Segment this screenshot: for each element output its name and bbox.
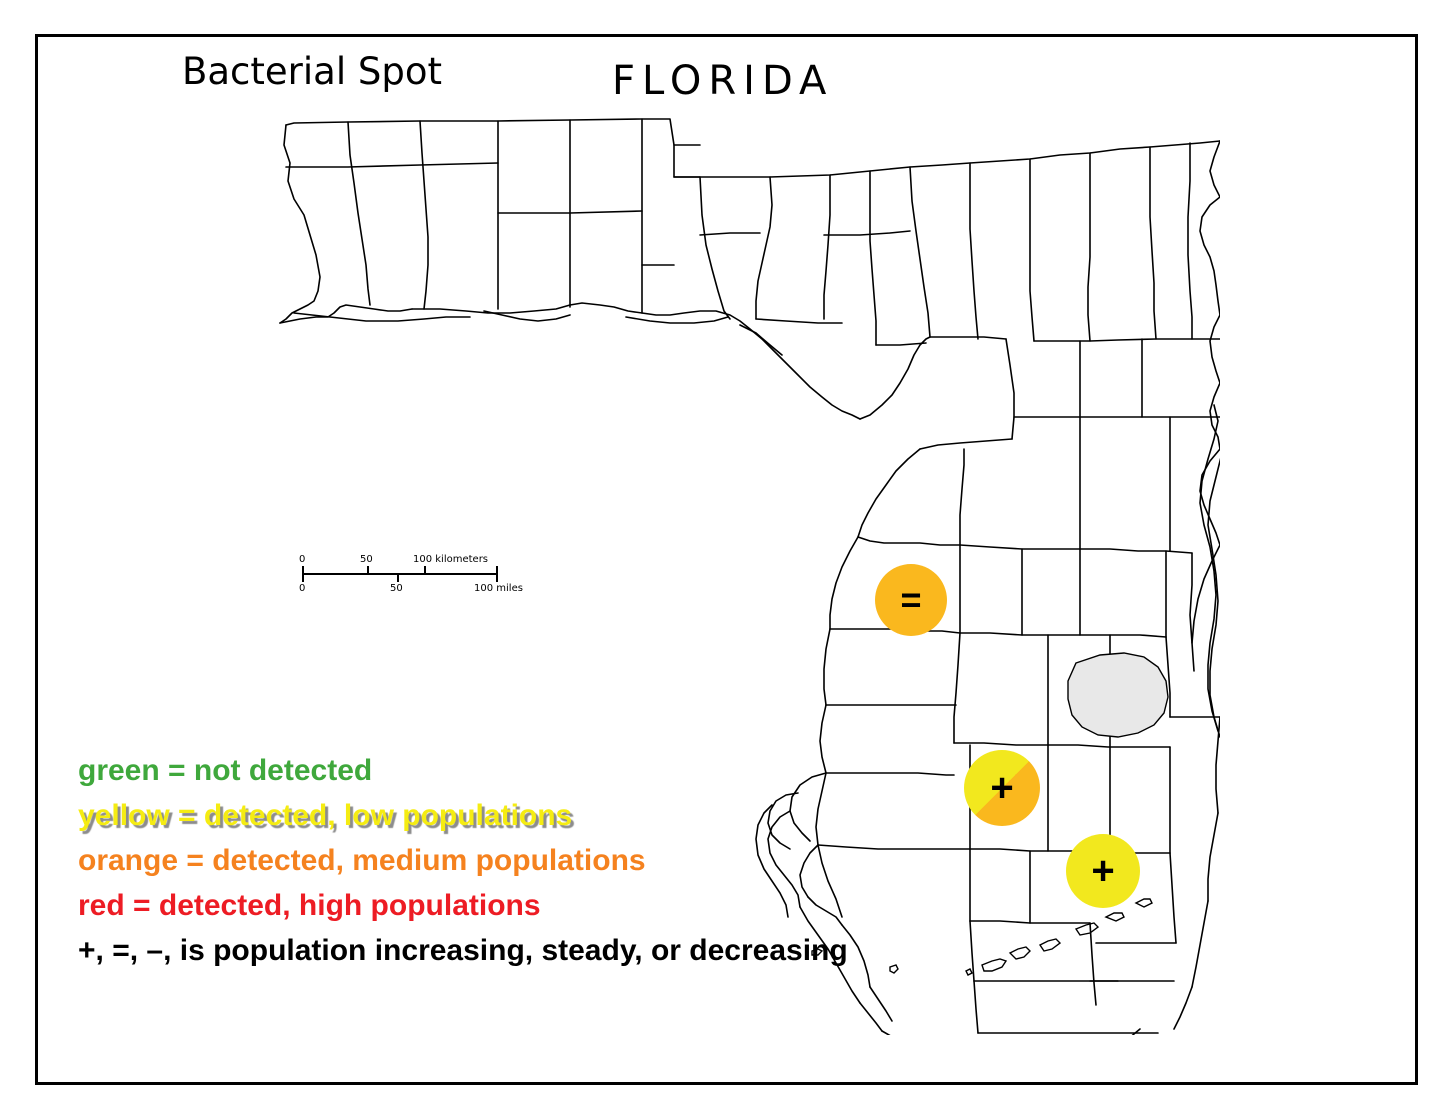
marker-southwest[interactable]: +: [964, 750, 1040, 826]
scale-tick-mi-50: [397, 573, 399, 582]
plus-sign-icon: +: [1091, 851, 1114, 891]
scale-label-km-50: 50: [360, 554, 373, 565]
legend-item-symbols: +, =, –, is population increasing, stead…: [78, 928, 1058, 973]
scale-tick-km-100: [424, 566, 426, 575]
legend-item-yellow: yellow = detected, low populations: [78, 793, 1058, 838]
scale-tick-km-50: [367, 566, 369, 575]
scale-label-mi-100: 100 miles: [474, 583, 523, 594]
state-title: FLORIDA: [612, 58, 833, 104]
legend-item-red: red = detected, high populations: [78, 883, 1058, 928]
legend-item-orange: orange = detected, medium populations: [78, 838, 1058, 883]
page-title: Bacterial Spot: [182, 50, 442, 93]
scale-tick-mi-100: [496, 573, 498, 582]
slide-canvas: Bacterial Spot FLORIDA: [0, 0, 1451, 1119]
scale-label-mi-50: 50: [390, 583, 403, 594]
legend: green = not detected yellow = detected, …: [78, 748, 1058, 973]
equals-sign-icon: =: [900, 582, 921, 618]
scale-label-km-0: 0: [299, 554, 305, 565]
lake-okeechobee: [1068, 653, 1168, 737]
scale-tick-mi-0: [302, 573, 304, 582]
scale-label-mi-0: 0: [299, 583, 305, 594]
map-scale-bar: 0 50 100 kilometers 0 50 100 miles: [296, 552, 546, 600]
legend-item-green: green = not detected: [78, 748, 1058, 793]
scale-label-km-100: 100 kilometers: [413, 554, 488, 565]
marker-southwest-central[interactable]: =: [875, 564, 947, 636]
plus-sign-icon: +: [990, 768, 1013, 808]
marker-southeast[interactable]: +: [1066, 834, 1140, 908]
scale-bar-line: [302, 573, 498, 575]
